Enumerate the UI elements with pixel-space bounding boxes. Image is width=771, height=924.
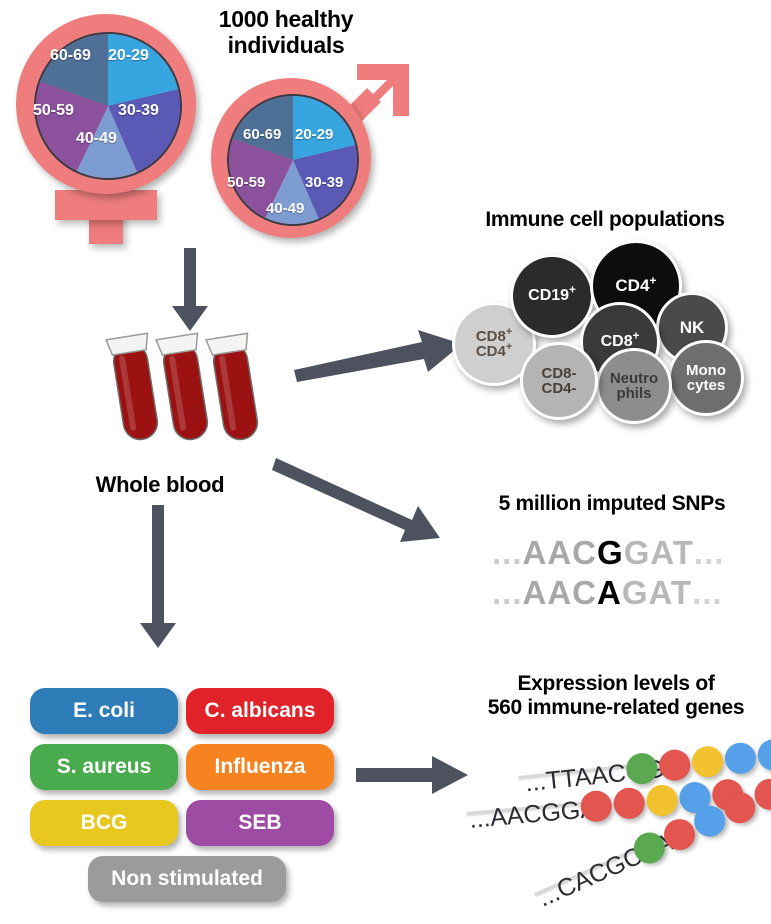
snp-right-bases: GAT: [622, 574, 692, 612]
snp-right-bases: GAT: [624, 534, 694, 572]
snp-sequence-row-2: ...AACAGAT...: [492, 574, 723, 612]
cell-label: NK: [680, 319, 705, 336]
snp-left-bases: AAC: [523, 574, 598, 612]
arrow-down-to-stimuli: [130, 505, 190, 650]
cell-label-line2: cytes: [687, 377, 725, 394]
female-pie-label-60-69: 60-69: [50, 47, 91, 65]
male-pie-label-60-69: 60-69: [243, 126, 281, 143]
snp-prefix: ...: [492, 534, 523, 572]
stimulus-c-albicans[interactable]: C. albicans: [186, 688, 334, 734]
expression-title-line2: 560 immune-related genes: [466, 696, 766, 720]
snp-left-bases: AAC: [523, 534, 598, 572]
male-pie-label-50-59: 50-59: [227, 174, 265, 191]
expression-title-line1: Expression levels of: [466, 672, 766, 696]
cell-label: CD19+: [528, 288, 576, 304]
snp-suffix: ...: [692, 574, 723, 612]
snps-title: 5 million imputed SNPs: [462, 492, 762, 516]
cohort-title-line1: 1000 healthy: [176, 6, 396, 32]
male-pie-label-40-49: 40-49: [266, 200, 304, 217]
stimulus-non-stimulated[interactable]: Non stimulated: [88, 856, 286, 902]
expression-bead: [612, 787, 646, 821]
expression-bead: [756, 738, 771, 772]
stimulus-influenza[interactable]: Influenza: [186, 744, 334, 790]
expression-title: Expression levels of 560 immune-related …: [466, 672, 766, 720]
arrow-right-to-immune-cells: [292, 330, 470, 388]
cell-neutrophils: Neutro phils: [596, 348, 672, 424]
snp-variant-base: G: [597, 534, 624, 572]
female-pie-label-40-49: 40-49: [76, 130, 117, 148]
stimulus-bcg[interactable]: BCG: [30, 800, 178, 846]
male-pie-label-20-29: 20-29: [295, 126, 333, 143]
cell-monocytes: Mono cytes: [668, 340, 744, 416]
stimulus-s-aureus[interactable]: S. aureus: [30, 744, 178, 790]
whole-blood-label: Whole blood: [70, 472, 250, 497]
male-gender-symbol: 20-29 30-39 40-49 50-59 60-69: [205, 60, 425, 240]
snp-variant-base: A: [597, 574, 622, 612]
cell-label-line2: CD4+: [476, 343, 512, 360]
expression-bead: [691, 745, 725, 779]
stimulus-e-coli[interactable]: E. coli: [30, 688, 178, 734]
snp-sequence-row-1: ...AACGGAT...: [492, 534, 724, 572]
immune-cells-title: Immune cell populations: [455, 208, 755, 232]
immune-cell-cluster: CD8+ CD4+ CD19+ CD4+ NK CD8+ Mono cytes …: [452, 240, 762, 420]
arrow-right-to-expression: [356, 752, 474, 798]
cell-label: CD4+: [615, 277, 656, 294]
arrow-down-to-blood: [160, 248, 220, 333]
female-symbol-crossbar: [55, 190, 157, 220]
female-pie-label-20-29: 20-29: [108, 47, 149, 65]
cell-cd19-positive: CD19+: [510, 254, 594, 338]
female-pie-label-30-39: 30-39: [118, 102, 159, 120]
cell-label-line2: CD4-: [541, 380, 576, 397]
snp-prefix: ...: [492, 574, 523, 612]
blood-collection-tubes-icon: [95, 330, 275, 460]
snp-suffix: ...: [694, 534, 725, 572]
arrow-diagonal-to-snps: [272, 442, 462, 547]
cohort-title: 1000 healthy individuals: [176, 6, 396, 59]
female-pie-label-50-59: 50-59: [33, 102, 74, 120]
cell-label-line2: phils: [616, 385, 651, 402]
expression-bead: [645, 784, 679, 818]
male-pie-label-30-39: 30-39: [305, 174, 343, 191]
stimulus-seb[interactable]: SEB: [186, 800, 334, 846]
expression-bead: [723, 741, 757, 775]
cohort-title-line2: individuals: [176, 32, 396, 58]
cell-cd8-cd4-double-negative: CD8- CD4-: [520, 342, 598, 420]
